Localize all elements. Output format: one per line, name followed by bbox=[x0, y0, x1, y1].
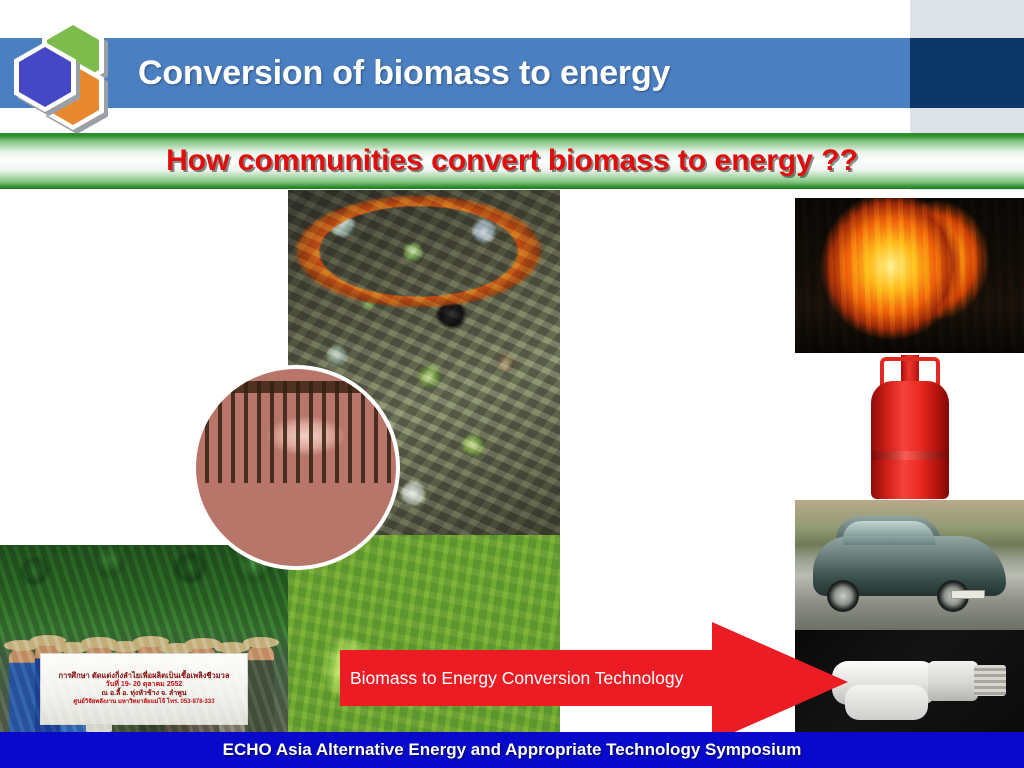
conversion-arrow: Biomass to Energy Conversion Technology bbox=[340, 622, 848, 742]
person-figure bbox=[60, 651, 86, 732]
people-row bbox=[0, 616, 288, 732]
person-figure bbox=[190, 647, 216, 732]
person-figure bbox=[138, 645, 164, 732]
lpg-gas-cylinder-photo bbox=[795, 353, 1024, 500]
question-banner-text: How communities convert biomass to energ… bbox=[0, 133, 1024, 189]
image-collage: การศึกษา ตัดแต่งกิ่งลำไยเพื่อผลิตเป็นเชื… bbox=[0, 190, 1024, 732]
person-figure bbox=[248, 646, 274, 732]
slide-title: Conversion of biomass to energy bbox=[138, 44, 898, 104]
thai-project-banner: การศึกษา ตัดแต่งกิ่งลำไยเพื่อผลิตเป็นเชื… bbox=[40, 653, 247, 724]
person-figure bbox=[86, 646, 112, 732]
presentation-slide: Conversion of biomass to energy How comm… bbox=[0, 0, 1024, 768]
car-front-wheel bbox=[827, 580, 859, 612]
pig-livestock-photo bbox=[192, 365, 400, 570]
flame-stove-photo bbox=[795, 198, 1024, 353]
pig-pen-bars bbox=[196, 381, 396, 483]
bulb-screw-cap bbox=[974, 665, 1006, 697]
arrow-head bbox=[712, 622, 848, 742]
person-figure bbox=[35, 644, 61, 732]
person-figure bbox=[164, 652, 190, 732]
cylinder-band bbox=[871, 451, 949, 460]
bulb-tube-lower bbox=[845, 685, 927, 720]
car-windshield bbox=[843, 521, 935, 546]
thai-banner-line-2: วันที่ 19- 20 ตุลาคม 2552 bbox=[106, 681, 183, 689]
car-photo bbox=[795, 500, 1024, 630]
thai-banner-line-1: การศึกษา ตัดแต่งกิ่งลำไยเพื่อผลิตเป็นเชื… bbox=[59, 672, 230, 681]
thai-banner-line-4: ศูนย์วิจัยพลังงาน มหาวิทยาลัยแม่โจ้ โทร.… bbox=[73, 699, 214, 706]
community-group-photo: การศึกษา ตัดแต่งกิ่งลำไยเพื่อผลิตเป็นเชื… bbox=[0, 545, 288, 732]
footer-text: ECHO Asia Alternative Energy and Appropr… bbox=[0, 732, 1024, 768]
title-bar-dark-block bbox=[910, 38, 1024, 108]
bulb-base bbox=[928, 661, 978, 702]
person-figure bbox=[9, 649, 35, 732]
thai-banner-line-3: ณ อ.ลี้ อ. ทุ่งหัวช้าง จ. ลำพูน bbox=[101, 690, 186, 698]
person-figure bbox=[112, 650, 138, 732]
blue-hexagon bbox=[19, 47, 71, 107]
car-license-plate bbox=[951, 590, 985, 599]
cylinder-body bbox=[871, 381, 949, 499]
person-figure bbox=[219, 651, 245, 732]
hexagon-logo bbox=[8, 20, 128, 130]
arrow-label: Biomass to Energy Conversion Technology bbox=[350, 650, 730, 706]
